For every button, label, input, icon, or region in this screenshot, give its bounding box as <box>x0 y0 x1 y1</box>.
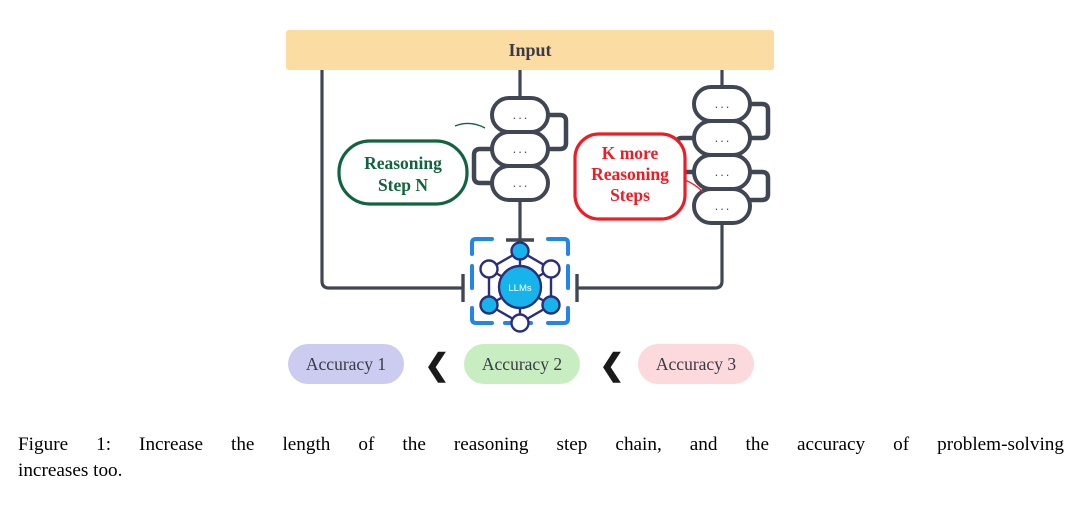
llm-outer-node-lower-left <box>481 297 498 314</box>
right-step-2: ... <box>694 121 750 155</box>
step-pill-label: ... <box>715 96 732 111</box>
callout-red-line-2: Reasoning <box>591 164 669 184</box>
llm-outer-node-upper-left <box>481 261 498 278</box>
figure-caption-line-2: increases too. <box>18 458 1064 484</box>
accuracy-badge-label: Accuracy 3 <box>656 354 736 374</box>
accuracy-separator-2: ❮ <box>599 349 624 383</box>
center-chain: ... ... ... <box>474 98 566 200</box>
callout-green-leader <box>455 123 485 128</box>
input-bar: Input <box>286 30 774 70</box>
step-pill-label: ... <box>513 175 530 190</box>
figure-caption-line-1: Figure 1: Increase the length of the rea… <box>18 432 1064 458</box>
callout-reasoning-step-n: Reasoning Step N <box>339 123 485 204</box>
accuracy-badge-label: Accuracy 1 <box>306 354 386 374</box>
step-pill-label: ... <box>715 130 732 145</box>
right-step-1: ... <box>694 87 750 121</box>
step-pill-label: ... <box>513 107 530 122</box>
callout-red-line-3: Steps <box>610 185 650 205</box>
callout-red-line-1: K more <box>602 143 659 163</box>
accuracy-separator-1: ❮ <box>424 349 449 383</box>
figure-diagram: Input ... ... <box>0 0 1080 415</box>
right-step-4: ... <box>694 189 750 223</box>
llm-center-label: LLMs <box>508 283 531 294</box>
llm-frame-corner-tr <box>548 239 568 254</box>
callout-k-more-reasoning-steps: K more Reasoning Steps <box>575 134 703 219</box>
callout-green-line-2: Step N <box>378 175 428 195</box>
callout-green-line-1: Reasoning <box>364 153 442 173</box>
figure-caption: Figure 1: Increase the length of the rea… <box>18 432 1064 484</box>
llm-outer-node-lower-right <box>543 297 560 314</box>
right-chain: ... ... ... ... <box>676 87 768 223</box>
center-step-2: ... <box>492 132 548 166</box>
accuracy-badge-3: Accuracy 3 <box>638 344 754 384</box>
center-step-1: ... <box>492 98 548 132</box>
llm-outer-node-bottom <box>512 315 529 332</box>
right-step-3: ... <box>694 155 750 189</box>
step-pill-label: ... <box>715 164 732 179</box>
llm-frame-corner-tl <box>472 239 492 254</box>
accuracy-badge-label: Accuracy 2 <box>482 354 562 374</box>
accuracy-badge-2: Accuracy 2 <box>464 344 580 384</box>
input-bar-label: Input <box>508 40 551 60</box>
center-step-3: ... <box>492 166 548 200</box>
llm-node: LLMs <box>472 239 568 332</box>
step-pill-label: ... <box>715 198 732 213</box>
accuracy-badge-1: Accuracy 1 <box>288 344 404 384</box>
accuracy-row: Accuracy 1 ❮ Accuracy 2 ❮ Accuracy 3 <box>288 344 754 384</box>
llm-outer-node-top <box>512 243 529 260</box>
figure-svg-canvas: Input ... ... <box>0 0 1080 415</box>
llm-outer-node-upper-right <box>543 261 560 278</box>
step-pill-label: ... <box>513 141 530 156</box>
